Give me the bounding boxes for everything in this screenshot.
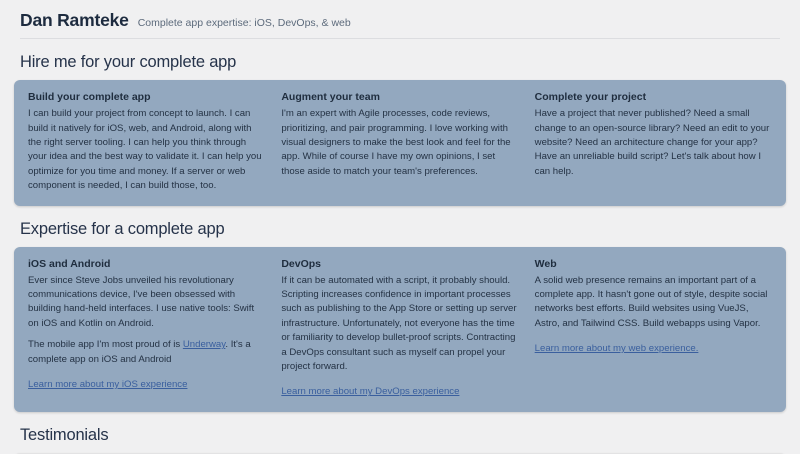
expertise-column-body-secondary: The mobile app I'm most proud of is Unde… [28, 338, 265, 367]
expertise-column-title: iOS and Android [28, 257, 265, 271]
hire-column-body: Have a project that never published? Nee… [535, 107, 772, 179]
expertise-column-devops: DevOps If it can be automated with a scr… [281, 257, 534, 400]
expertise-column-title: DevOps [281, 257, 518, 271]
section-expertise: Expertise for a complete app iOS and And… [0, 220, 800, 412]
masthead: Dan Ramteke Complete app expertise: iOS,… [0, 0, 800, 31]
hire-column-title: Complete your project [535, 90, 772, 104]
site-tagline: Complete app expertise: iOS, DevOps, & w… [138, 17, 351, 29]
section-heading-expertise: Expertise for a complete app [20, 220, 786, 239]
learn-more-ios-link[interactable]: Learn more about my iOS experience [28, 378, 187, 392]
page-root: Dan Ramteke Complete app expertise: iOS,… [0, 0, 800, 454]
expertise-card: iOS and Android Ever since Steve Jobs un… [14, 247, 786, 412]
expertise-column-web: Web A solid web presence remains an impo… [535, 257, 772, 400]
expertise-column-body: If it can be automated with a script, it… [281, 274, 518, 375]
hire-column-build: Build your complete app I can build your… [28, 90, 281, 194]
hire-column-title: Augment your team [281, 90, 518, 104]
hire-column-body: I can build your project from concept to… [28, 107, 265, 193]
expertise-column-ios-android: iOS and Android Ever since Steve Jobs un… [28, 257, 281, 400]
expertise-column-body: A solid web presence remains an importan… [535, 274, 772, 332]
underway-prefix-text: The mobile app I'm most proud of is [28, 339, 183, 350]
hire-column-augment: Augment your team I'm an expert with Agi… [281, 90, 534, 194]
hire-column-body: I'm an expert with Agile processes, code… [281, 107, 518, 179]
hire-column-complete: Complete your project Have a project tha… [535, 90, 772, 194]
hire-card: Build your complete app I can build your… [14, 80, 786, 206]
section-testimonials: Testimonials Dan Cogan-Drew, CPO at News… [0, 426, 800, 454]
learn-more-devops-link[interactable]: Learn more about my DevOps experience [281, 385, 459, 399]
section-heading-hire: Hire me for your complete app [20, 53, 786, 72]
expertise-column-body: Ever since Steve Jobs unveiled his revol… [28, 274, 265, 332]
section-hire: Hire me for your complete app Build your… [0, 53, 800, 206]
section-heading-testimonials: Testimonials [20, 426, 786, 445]
learn-more-web-link[interactable]: Learn more about my web experience. [535, 342, 699, 356]
expertise-column-title: Web [535, 257, 772, 271]
hire-column-title: Build your complete app [28, 90, 265, 104]
site-title: Dan Ramteke [20, 10, 129, 31]
masthead-divider [20, 38, 780, 39]
underway-link[interactable]: Underway [183, 339, 225, 350]
